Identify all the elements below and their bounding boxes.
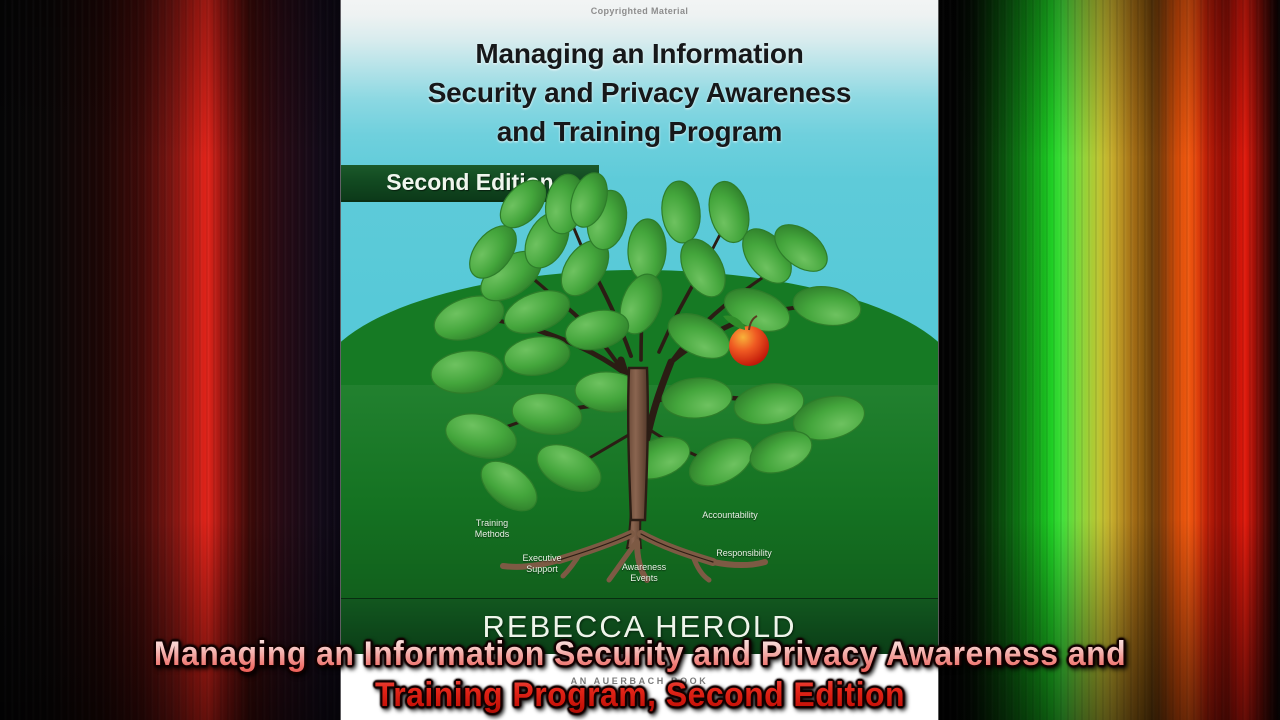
root-label-awareness-events: Awareness Events: [606, 562, 682, 584]
product-image-canvas: Copyrighted Material Managing an Informa…: [0, 0, 1280, 720]
author-name: REBECCA HEROLD: [483, 609, 797, 645]
root-label-accountability: Accountability: [685, 510, 775, 521]
root-label-responsibility: Responsibility: [699, 548, 789, 559]
publisher-band: AN AUERBACH BOOK: [341, 654, 938, 720]
root-label-executive-support: Executive Support: [505, 553, 579, 575]
book-cover: Copyrighted Material Managing an Informa…: [341, 0, 938, 720]
publisher-imprint: AN AUERBACH BOOK: [571, 676, 709, 686]
root-label-training-methods: Training Methods: [459, 518, 525, 540]
author-band: REBECCA HEROLD: [341, 598, 938, 654]
